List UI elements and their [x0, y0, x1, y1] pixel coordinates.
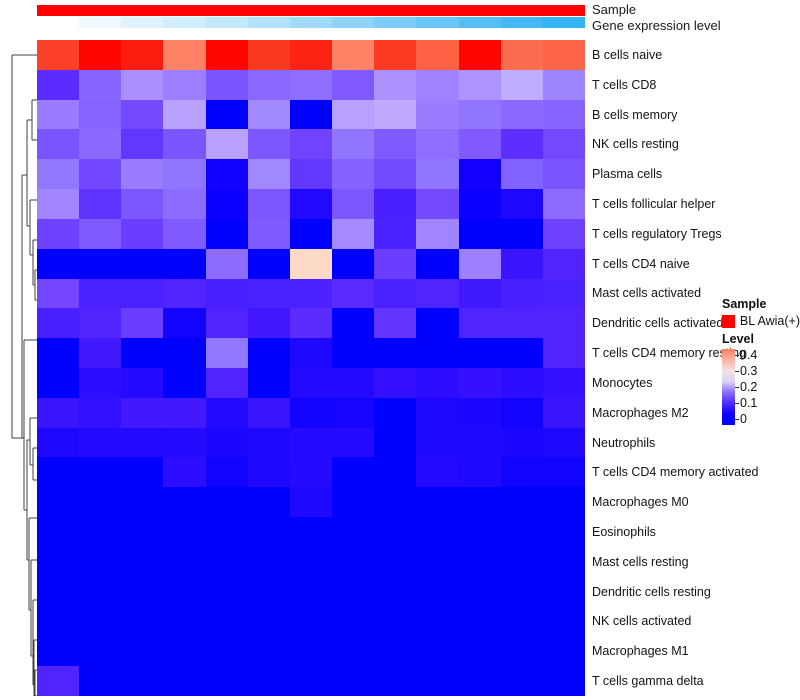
heatmap-cell [501, 249, 543, 279]
heatmap-cell [332, 70, 374, 100]
heatmap-cell [459, 159, 501, 189]
heatmap-cell [332, 279, 374, 309]
heatmap-cell [248, 159, 290, 189]
heatmap-cell [37, 159, 79, 189]
heatmap-cell [332, 40, 374, 70]
heatmap-cell [416, 100, 458, 130]
heatmap-row [37, 398, 585, 428]
heatmap-cell [374, 517, 416, 547]
heatmap-cell [206, 308, 248, 338]
heatmap-cell [290, 666, 332, 696]
heatmap-cell [416, 189, 458, 219]
heatmap-cell [459, 100, 501, 130]
heatmap-cell [206, 70, 248, 100]
legend-level-scale: 0.40.30.20.10 [722, 349, 800, 425]
heatmap-cell [459, 279, 501, 309]
heatmap-cell [121, 547, 163, 577]
heatmap-cell [206, 517, 248, 547]
heatmap-cell [248, 398, 290, 428]
heatmap-cell [37, 547, 79, 577]
heatmap-cell [163, 487, 205, 517]
heatmap-cell [121, 368, 163, 398]
sample-annotation-cell [290, 5, 332, 16]
heatmap-cell [206, 606, 248, 636]
heatmap-cell [543, 189, 585, 219]
heatmap-cell [543, 577, 585, 607]
heatmap-cell [416, 279, 458, 309]
heatmap-cell [543, 457, 585, 487]
heatmap-cell [79, 577, 121, 607]
heatmap-row-label: NK cells resting [592, 138, 679, 150]
heatmap-row [37, 428, 585, 458]
heatmap-cell [374, 636, 416, 666]
heatmap-cell [374, 368, 416, 398]
heatmap-cell [290, 219, 332, 249]
heatmap-cell [332, 219, 374, 249]
heatmap-cell [501, 517, 543, 547]
heatmap-row-label: Monocytes [592, 377, 652, 389]
heatmap-cell [37, 666, 79, 696]
heatmap-row-label: T cells gamma delta [592, 675, 704, 687]
heatmap-cell [374, 338, 416, 368]
heatmap-cell [459, 428, 501, 458]
heatmap-cell [332, 129, 374, 159]
heatmap-cell [206, 100, 248, 130]
heatmap-row-label: Dendritic cells resting [592, 586, 711, 598]
heatmap-cell [332, 338, 374, 368]
row-dendrogram [0, 40, 37, 696]
heatmap-cell [290, 606, 332, 636]
sample-annotation-bar [37, 5, 585, 16]
heatmap-cell [416, 547, 458, 577]
heatmap-cell [79, 189, 121, 219]
gene-expression-annotation-cell [163, 17, 205, 28]
heatmap-cell [501, 606, 543, 636]
heatmap-cell [206, 428, 248, 458]
heatmap-cell [543, 398, 585, 428]
heatmap-cell [163, 308, 205, 338]
legend-panel: Sample BL Awia(+) Level 0.40.30.20.10 [722, 297, 800, 425]
heatmap-cell [290, 457, 332, 487]
heatmap-cell [290, 70, 332, 100]
heatmap-row [37, 636, 585, 666]
heatmap-cell [416, 606, 458, 636]
heatmap-cell [332, 159, 374, 189]
heatmap-cell [79, 398, 121, 428]
heatmap-cell [163, 129, 205, 159]
gene-expression-annotation-cell [332, 17, 374, 28]
heatmap-cell [79, 279, 121, 309]
heatmap-cell [248, 338, 290, 368]
heatmap-cell [332, 398, 374, 428]
heatmap-cell [374, 666, 416, 696]
heatmap-cell [459, 606, 501, 636]
heatmap-cell [290, 368, 332, 398]
heatmap-cell [543, 129, 585, 159]
heatmap-cell [459, 636, 501, 666]
heatmap-cell [416, 517, 458, 547]
heatmap-cell [37, 189, 79, 219]
heatmap-cell [332, 308, 374, 338]
legend-sample-items: BL Awia(+) [722, 314, 800, 328]
heatmap-cell [543, 428, 585, 458]
legend-level-gradient-bar [722, 349, 735, 425]
heatmap-cell [248, 517, 290, 547]
heatmap-cell [37, 129, 79, 159]
heatmap-row-label: T cells CD4 memory activated [592, 466, 759, 478]
legend-level-tick-label: 0.4 [740, 349, 757, 361]
heatmap-cell [416, 219, 458, 249]
heatmap-cell [121, 636, 163, 666]
heatmap-cell [163, 70, 205, 100]
heatmap-cell [416, 636, 458, 666]
heatmap-cell [206, 487, 248, 517]
heatmap-cell [290, 159, 332, 189]
heatmap-cell [416, 249, 458, 279]
heatmap-cell [248, 666, 290, 696]
heatmap-cell [163, 279, 205, 309]
heatmap-cell [543, 368, 585, 398]
heatmap-cell [459, 487, 501, 517]
heatmap-cell [416, 577, 458, 607]
heatmap-cell [501, 666, 543, 696]
heatmap-cell [459, 398, 501, 428]
heatmap-cell [79, 338, 121, 368]
heatmap-cell [121, 517, 163, 547]
heatmap-cell [121, 249, 163, 279]
heatmap-cell [79, 487, 121, 517]
heatmap-cell [248, 279, 290, 309]
heatmap-cell [206, 577, 248, 607]
heatmap-cell [290, 547, 332, 577]
legend-level-tick-label: 0.3 [740, 365, 757, 377]
heatmap-cell [416, 368, 458, 398]
heatmap-cell [543, 547, 585, 577]
heatmap-cell [121, 606, 163, 636]
heatmap-cell [163, 666, 205, 696]
heatmap-cell [543, 159, 585, 189]
sample-annotation-cell [416, 5, 458, 16]
heatmap-cell [121, 189, 163, 219]
heatmap-cell [248, 547, 290, 577]
heatmap-row-label: Dendritic cells activated [592, 317, 723, 329]
heatmap-cell [37, 517, 79, 547]
heatmap-row-label: Mast cells activated [592, 287, 701, 299]
gene-expression-annotation-cell [121, 17, 163, 28]
heatmap-row [37, 129, 585, 159]
heatmap-row [37, 219, 585, 249]
sample-annotation-cell [121, 5, 163, 16]
heatmap-cell [37, 487, 79, 517]
heatmap-cell [79, 368, 121, 398]
heatmap-row-label: B cells naive [592, 49, 662, 61]
heatmap-cell [121, 666, 163, 696]
heatmap-cell [459, 189, 501, 219]
sample-annotation-cell [459, 5, 501, 16]
heatmap-grid [37, 40, 585, 696]
heatmap-cell [374, 40, 416, 70]
heatmap-cell [374, 577, 416, 607]
gene-expression-annotation-cell [459, 17, 501, 28]
heatmap-row [37, 487, 585, 517]
heatmap-cell [163, 636, 205, 666]
heatmap-cell [37, 457, 79, 487]
heatmap-cell [37, 308, 79, 338]
heatmap-cell [121, 70, 163, 100]
sample-annotation-cell [248, 5, 290, 16]
heatmap-cell [374, 249, 416, 279]
heatmap-cell [37, 338, 79, 368]
sample-annotation-cell [37, 5, 79, 16]
heatmap-cell [163, 368, 205, 398]
heatmap-row-label: Mast cells resting [592, 556, 689, 568]
heatmap-cell [543, 606, 585, 636]
heatmap-cell [459, 666, 501, 696]
heatmap-cell [290, 577, 332, 607]
sample-annotation-cell [543, 5, 585, 16]
heatmap-cell [543, 279, 585, 309]
heatmap-cell [459, 547, 501, 577]
heatmap-cell [248, 457, 290, 487]
heatmap-cell [206, 219, 248, 249]
heatmap-cell [543, 40, 585, 70]
heatmap-cell [248, 249, 290, 279]
heatmap-cell [248, 40, 290, 70]
heatmap-cell [416, 398, 458, 428]
heatmap-row-label: Macrophages M2 [592, 407, 689, 419]
heatmap-cell [290, 249, 332, 279]
legend-level-tick-label: 0 [740, 413, 747, 425]
heatmap-cell [416, 457, 458, 487]
heatmap-cell [416, 338, 458, 368]
heatmap-cell [459, 129, 501, 159]
heatmap-cell [374, 428, 416, 458]
heatmap-cell [374, 398, 416, 428]
heatmap-cell [37, 70, 79, 100]
heatmap-cell [290, 100, 332, 130]
heatmap-cell [543, 249, 585, 279]
sample-annotation-cell [501, 5, 543, 16]
heatmap-cell [206, 457, 248, 487]
heatmap-cell [374, 70, 416, 100]
heatmap-row-label: Macrophages M1 [592, 645, 689, 657]
heatmap-cell [416, 70, 458, 100]
heatmap-cell [290, 398, 332, 428]
heatmap-cell [248, 189, 290, 219]
heatmap-cell [459, 308, 501, 338]
gene-expression-annotation-cell [374, 17, 416, 28]
heatmap-row [37, 577, 585, 607]
heatmap-cell [163, 577, 205, 607]
legend-level-tickmark [735, 371, 739, 372]
heatmap-cell [79, 70, 121, 100]
heatmap-cell [79, 249, 121, 279]
heatmap-cell [501, 100, 543, 130]
gene-expression-annotation-label: Gene expression level [592, 19, 721, 32]
heatmap-cell [206, 547, 248, 577]
heatmap-cell [248, 428, 290, 458]
heatmap-cell [543, 70, 585, 100]
heatmap-cell [121, 487, 163, 517]
heatmap-cell [79, 457, 121, 487]
heatmap-cell [374, 279, 416, 309]
legend-level-title: Level [722, 332, 800, 347]
heatmap-cell [248, 487, 290, 517]
heatmap-cell [79, 40, 121, 70]
heatmap-cell [374, 487, 416, 517]
heatmap-row [37, 100, 585, 130]
heatmap-cell [416, 666, 458, 696]
heatmap-cell [543, 487, 585, 517]
sample-annotation-cell [374, 5, 416, 16]
heatmap-cell [163, 40, 205, 70]
gene-expression-annotation-cell [206, 17, 248, 28]
heatmap-cell [121, 577, 163, 607]
heatmap-cell [459, 70, 501, 100]
heatmap-cell [163, 100, 205, 130]
heatmap-row-label: NK cells activated [592, 615, 691, 627]
gene-expression-annotation-cell [416, 17, 458, 28]
gene-expression-annotation-cell [290, 17, 332, 28]
heatmap-cell [459, 40, 501, 70]
heatmap-row-label: Macrophages M0 [592, 496, 689, 508]
heatmap-cell [248, 577, 290, 607]
heatmap-cell [459, 517, 501, 547]
heatmap-cell [79, 666, 121, 696]
heatmap-cell [290, 129, 332, 159]
heatmap-cell [163, 398, 205, 428]
legend-level-ticks: 0.40.30.20.10 [735, 349, 795, 425]
heatmap-cell [206, 279, 248, 309]
heatmap-cell [79, 159, 121, 189]
heatmap-cell [206, 249, 248, 279]
heatmap-cell [332, 517, 374, 547]
heatmap-cell [290, 487, 332, 517]
legend-level-tickmark [735, 387, 739, 388]
heatmap-cell [501, 129, 543, 159]
heatmap-cell [121, 457, 163, 487]
heatmap-cell [501, 457, 543, 487]
heatmap-cell [79, 606, 121, 636]
heatmap-row-label: B cells memory [592, 109, 677, 121]
heatmap-cell [248, 100, 290, 130]
heatmap-cell [332, 666, 374, 696]
heatmap-row [37, 70, 585, 100]
legend-level-tick-label: 0.1 [740, 397, 757, 409]
heatmap-cell [501, 368, 543, 398]
heatmap-cell [248, 368, 290, 398]
heatmap-cell [332, 457, 374, 487]
gene-expression-annotation-cell [248, 17, 290, 28]
heatmap-row-label: Eosinophils [592, 526, 656, 538]
heatmap-cell [206, 398, 248, 428]
gene-expression-annotation-cell [79, 17, 121, 28]
heatmap-cell [543, 666, 585, 696]
heatmap-cell [79, 517, 121, 547]
heatmap-row-label: T cells CD8 [592, 79, 656, 91]
sample-annotation-cell [206, 5, 248, 16]
heatmap-cell [290, 308, 332, 338]
heatmap-cell [163, 428, 205, 458]
heatmap-cell [501, 308, 543, 338]
heatmap-cell [37, 249, 79, 279]
heatmap-cell [290, 338, 332, 368]
heatmap-cell [332, 487, 374, 517]
heatmap-cell [163, 606, 205, 636]
heatmap-row-label: Plasma cells [592, 168, 662, 180]
heatmap-cell [248, 606, 290, 636]
heatmap-cell [290, 428, 332, 458]
gene-expression-annotation-cell [501, 17, 543, 28]
heatmap-row [37, 457, 585, 487]
heatmap-cell [37, 219, 79, 249]
heatmap-cell [416, 129, 458, 159]
heatmap-row [37, 189, 585, 219]
gene-expression-annotation-bar [37, 17, 585, 28]
heatmap-cell [459, 368, 501, 398]
legend-level-tick-label: 0.2 [740, 381, 757, 393]
heatmap-cell [79, 129, 121, 159]
heatmap-cell [332, 189, 374, 219]
heatmap-cell [79, 219, 121, 249]
heatmap-cell [206, 666, 248, 696]
heatmap-cell [332, 428, 374, 458]
heatmap-cell [163, 517, 205, 547]
heatmap-row [37, 606, 585, 636]
heatmap-cell [121, 398, 163, 428]
heatmap-cell [79, 636, 121, 666]
heatmap-row-label: Neutrophils [592, 437, 655, 449]
heatmap-cell [501, 159, 543, 189]
heatmap-cell [543, 338, 585, 368]
heatmap-cell [37, 606, 79, 636]
heatmap-cell [459, 219, 501, 249]
heatmap-cell [501, 547, 543, 577]
heatmap-cell [501, 398, 543, 428]
gene-expression-annotation-cell [37, 17, 79, 28]
heatmap-cell [290, 517, 332, 547]
heatmap-cell [121, 159, 163, 189]
heatmap-cell [332, 547, 374, 577]
legend-sample-item: BL Awia(+) [722, 314, 800, 328]
heatmap-cell [332, 249, 374, 279]
heatmap-cell [37, 40, 79, 70]
heatmap-cell [290, 279, 332, 309]
heatmap-cell [543, 219, 585, 249]
heatmap-cell [121, 308, 163, 338]
heatmap-cell [290, 636, 332, 666]
heatmap-cell [121, 219, 163, 249]
heatmap-cell [121, 100, 163, 130]
heatmap-cell [206, 368, 248, 398]
heatmap-cell [163, 189, 205, 219]
heatmap-cell [374, 547, 416, 577]
heatmap-cell [37, 636, 79, 666]
heatmap-cell [501, 40, 543, 70]
heatmap-cell [501, 189, 543, 219]
sample-annotation-cell [332, 5, 374, 16]
heatmap-cell [37, 577, 79, 607]
heatmap-row [37, 159, 585, 189]
legend-sample-title: Sample [722, 297, 800, 312]
heatmap-cell [416, 40, 458, 70]
heatmap-row [37, 249, 585, 279]
heatmap-cell [206, 636, 248, 666]
heatmap-cell [206, 40, 248, 70]
heatmap-cell [459, 457, 501, 487]
heatmap-cell [206, 338, 248, 368]
heatmap-cell [248, 129, 290, 159]
